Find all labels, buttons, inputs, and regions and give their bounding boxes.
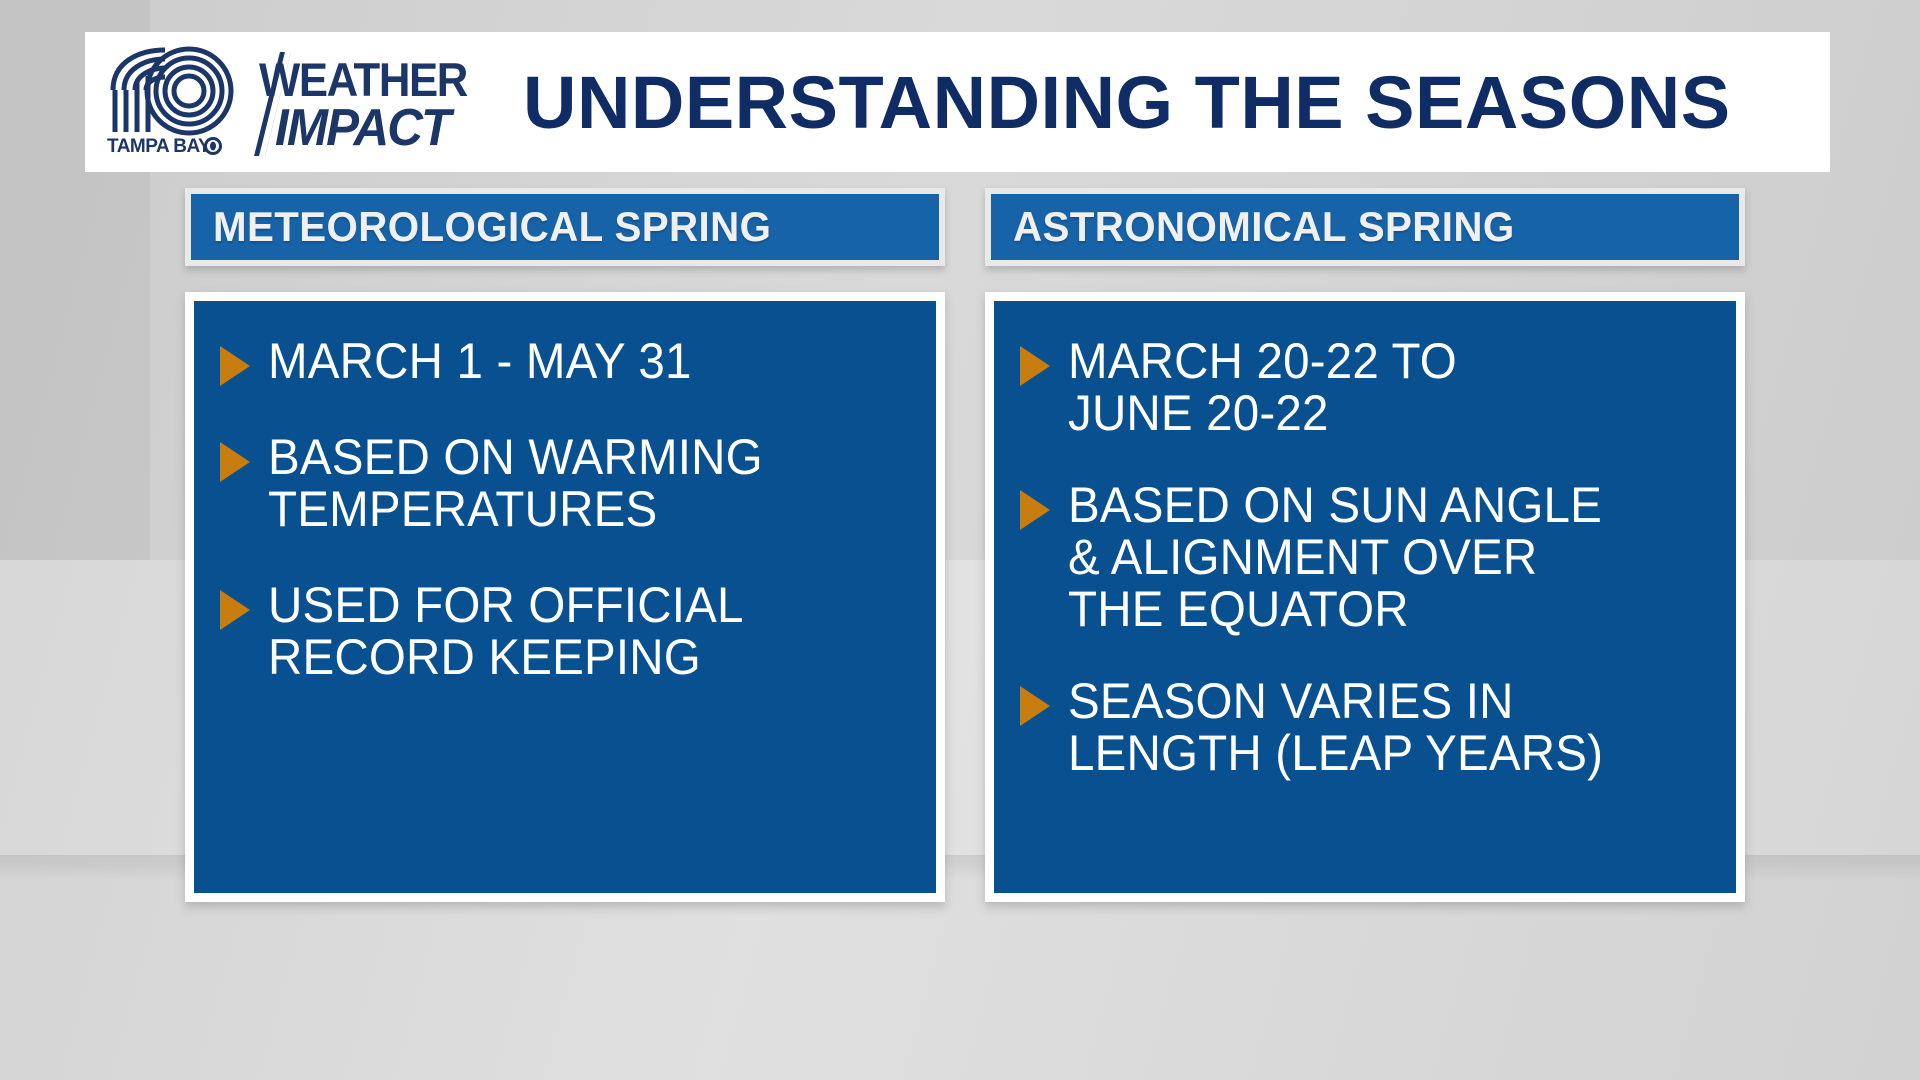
triangle-bullet-icon (1020, 346, 1050, 386)
panel-frame-right: MARCH 20-22 TO JUNE 20-22 BASED ON SUN A… (985, 292, 1745, 902)
list-item: USED FOR OFFICIAL RECORD KEEPING (220, 579, 910, 683)
triangle-bullet-icon (220, 346, 250, 386)
station-logo: TAMPA BAY WEATHER IMPACT (103, 43, 493, 161)
triangle-bullet-icon (1020, 686, 1050, 726)
list-item: SEASON VARIES IN LENGTH (LEAP YEARS) (1020, 675, 1710, 779)
bullet-text: BASED ON SUN ANGLE & ALIGNMENT OVER THE … (1068, 479, 1602, 635)
bullet-text: SEASON VARIES IN LENGTH (LEAP YEARS) (1068, 675, 1603, 779)
panel-frame-left: MARCH 1 - MAY 31 BASED ON WARMING TEMPER… (185, 292, 945, 902)
column-astronomical: ASTRONOMICAL SPRING MARCH 20-22 TO JUNE … (985, 188, 1745, 902)
list-item: MARCH 20-22 TO JUNE 20-22 (1020, 335, 1710, 439)
bullet-text: MARCH 20-22 TO JUNE 20-22 (1068, 335, 1457, 439)
column-header-label-right: ASTRONOMICAL SPRING (1013, 206, 1515, 248)
bullet-text: USED FOR OFFICIAL RECORD KEEPING (268, 579, 744, 683)
bullet-text: BASED ON WARMING TEMPERATURES (268, 431, 763, 535)
list-item: BASED ON WARMING TEMPERATURES (220, 431, 910, 535)
list-item: BASED ON SUN ANGLE & ALIGNMENT OVER THE … (1020, 479, 1710, 635)
column-header-left: METEOROLOGICAL SPRING (191, 194, 939, 260)
column-header-frame-right: ASTRONOMICAL SPRING (985, 188, 1745, 266)
list-item: MARCH 1 - MAY 31 (220, 335, 910, 387)
column-meteorological: METEOROLOGICAL SPRING MARCH 1 - MAY 31 B… (185, 188, 945, 902)
panel-body-left: MARCH 1 - MAY 31 BASED ON WARMING TEMPER… (194, 301, 936, 893)
panel-body-right: MARCH 20-22 TO JUNE 20-22 BASED ON SUN A… (994, 301, 1736, 893)
channel-10-logo-icon: TAMPA BAY (103, 46, 237, 158)
bullet-text: MARCH 1 - MAY 31 (268, 335, 692, 387)
weather-impact-wordmark: WEATHER IMPACT (241, 50, 491, 154)
page-title: UNDERSTANDING THE SEASONS (523, 60, 1731, 145)
column-header-frame-left: METEOROLOGICAL SPRING (185, 188, 945, 266)
column-header-label-left: METEOROLOGICAL SPRING (213, 206, 771, 248)
wordmark-impact: IMPACT (275, 102, 449, 154)
triangle-bullet-icon (220, 590, 250, 630)
column-header-right: ASTRONOMICAL SPRING (991, 194, 1739, 260)
triangle-bullet-icon (220, 442, 250, 482)
wordmark-weather: WEATHER (259, 56, 467, 103)
header-bar: TAMPA BAY WEATHER IMPACT UNDERSTANDING T… (85, 32, 1830, 172)
svg-text:TAMPA BAY: TAMPA BAY (107, 136, 211, 157)
triangle-bullet-icon (1020, 490, 1050, 530)
